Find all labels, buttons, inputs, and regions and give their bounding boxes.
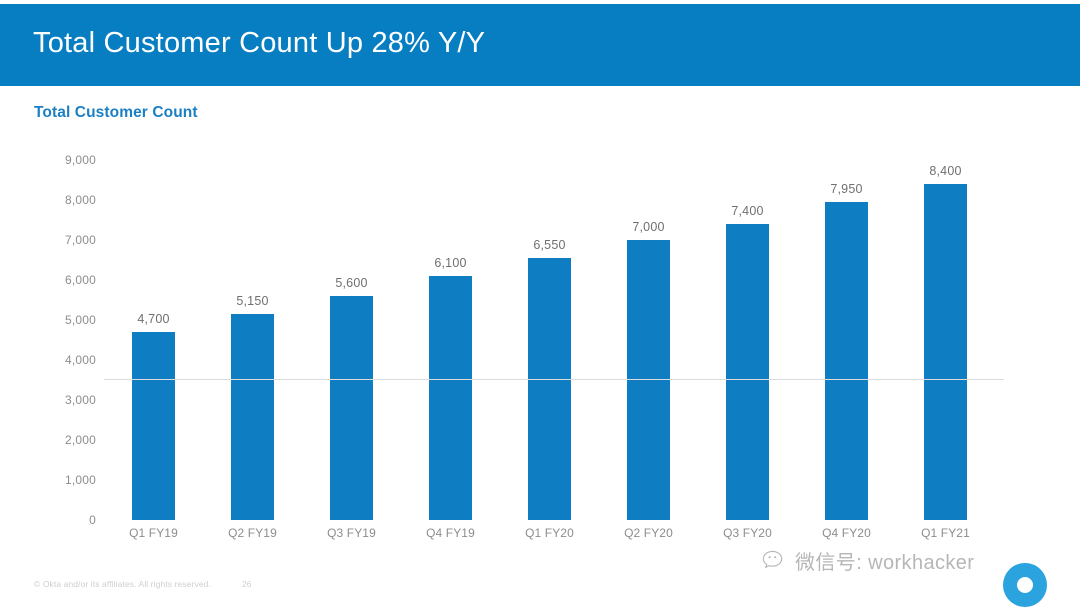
bar[interactable] bbox=[330, 296, 373, 520]
x-axis-tick-label: Q2 FY20 bbox=[599, 526, 698, 540]
y-axis-tick-label: 2,000 bbox=[65, 433, 96, 447]
bar[interactable] bbox=[231, 314, 274, 520]
bar-slot: 6,100 bbox=[401, 160, 500, 520]
bar[interactable] bbox=[924, 184, 967, 520]
y-axis-tick-label: 5,000 bbox=[65, 313, 96, 327]
footer-copyright: © Okta and/or its affiliates. All rights… bbox=[34, 579, 211, 589]
bar-value-label: 6,550 bbox=[500, 238, 599, 252]
bar-slot: 7,950 bbox=[797, 160, 896, 520]
x-axis-tick-label: Q4 FY20 bbox=[797, 526, 896, 540]
x-axis-line bbox=[104, 379, 1004, 380]
bar[interactable] bbox=[627, 240, 670, 520]
y-axis-tick-label: 1,000 bbox=[65, 473, 96, 487]
bar[interactable] bbox=[726, 224, 769, 520]
y-axis-tick-label: 7,000 bbox=[65, 233, 96, 247]
bar-value-label: 5,600 bbox=[302, 276, 401, 290]
y-axis-tick-label: 9,000 bbox=[65, 153, 96, 167]
bar-slot: 7,000 bbox=[599, 160, 698, 520]
x-axis-tick-label: Q3 FY20 bbox=[698, 526, 797, 540]
bar-chart: 9,0008,0007,0006,0005,0004,0003,0002,000… bbox=[0, 140, 1080, 540]
plot-area: 4,7005,1505,6006,1006,5507,0007,4007,950… bbox=[104, 160, 1004, 520]
okta-logo-hole bbox=[1017, 577, 1033, 593]
bar-slot: 8,400 bbox=[896, 160, 995, 520]
bar-value-label: 7,000 bbox=[599, 220, 698, 234]
x-axis-tick-label: Q2 FY19 bbox=[203, 526, 302, 540]
bar-slot: 4,700 bbox=[104, 160, 203, 520]
chart-title: Total Customer Count bbox=[34, 104, 198, 122]
footer-page-number: 26 bbox=[242, 579, 251, 589]
bar-value-label: 8,400 bbox=[896, 164, 995, 178]
bar-value-label: 7,950 bbox=[797, 182, 896, 196]
y-axis: 9,0008,0007,0006,0005,0004,0003,0002,000… bbox=[40, 160, 96, 520]
watermark-text: 微信号: workhacker bbox=[795, 546, 974, 575]
okta-logo bbox=[1003, 563, 1047, 607]
bar-slot: 7,400 bbox=[698, 160, 797, 520]
y-axis-tick-label: 4,000 bbox=[65, 353, 96, 367]
page-title: Total Customer Count Up 28% Y/Y bbox=[33, 27, 485, 60]
x-axis-tick-label: Q1 FY19 bbox=[104, 526, 203, 540]
y-axis-tick-label: 3,000 bbox=[65, 393, 96, 407]
watermark: 微信号: workhacker bbox=[762, 546, 974, 575]
y-axis-tick-label: 8,000 bbox=[65, 193, 96, 207]
bar-slot: 6,550 bbox=[500, 160, 599, 520]
bar[interactable] bbox=[132, 332, 175, 520]
bar[interactable] bbox=[429, 276, 472, 520]
y-axis-tick-label: 0 bbox=[89, 513, 96, 527]
bar-value-label: 7,400 bbox=[698, 204, 797, 218]
slide: Total Customer Count Up 28% Y/Y Total Cu… bbox=[0, 0, 1080, 608]
y-axis-tick-label: 6,000 bbox=[65, 273, 96, 287]
x-axis-tick-label: Q1 FY20 bbox=[500, 526, 599, 540]
wechat-icon bbox=[762, 550, 788, 572]
x-axis-tick-label: Q3 FY19 bbox=[302, 526, 401, 540]
bar-slot: 5,600 bbox=[302, 160, 401, 520]
x-axis-tick-label: Q4 FY19 bbox=[401, 526, 500, 540]
bar[interactable] bbox=[528, 258, 571, 520]
bar[interactable] bbox=[825, 202, 868, 520]
x-axis-tick-label: Q1 FY21 bbox=[896, 526, 995, 540]
bar-value-label: 4,700 bbox=[104, 312, 203, 326]
bar-slot: 5,150 bbox=[203, 160, 302, 520]
bar-value-label: 5,150 bbox=[203, 294, 302, 308]
bar-value-label: 6,100 bbox=[401, 256, 500, 270]
